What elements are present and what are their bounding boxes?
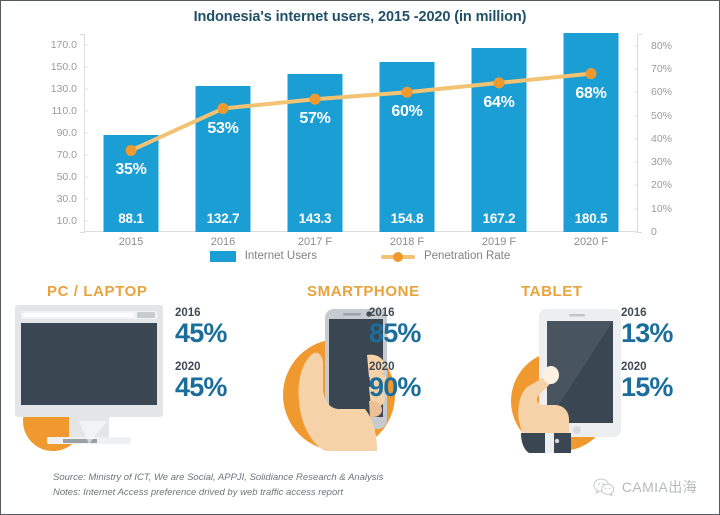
penetration-value-label: 64% [453, 94, 545, 112]
device-title: SMARTPHONE [257, 283, 501, 300]
device-panel-pc: PC / LAPTOP 2016 45% 2020 [7, 281, 257, 461]
penetration-value-label: 60% [361, 103, 453, 121]
y-tick-label: 110.0 [52, 105, 78, 117]
stat-value: 90% [369, 374, 421, 401]
infographic-root: Indonesia's internet users, 2015 -2020 (… [0, 0, 720, 515]
stat-block: 2016 13% [621, 307, 673, 347]
stat-value: 85% [369, 320, 421, 347]
stat-value: 15% [621, 374, 673, 401]
legend-item-internet-users: Internet Users [210, 250, 317, 262]
y2-tick-label: 30% [651, 156, 672, 168]
y-tick-mark [84, 177, 88, 178]
penetration-value-label: 53% [177, 120, 269, 138]
bar-column: 88.135% [85, 34, 177, 232]
y-tick-label: 150.0 [51, 61, 77, 73]
x-tick-label: 2017 F [269, 236, 361, 248]
y-tick-label: 30.0 [57, 193, 77, 205]
y2-tick-mark [634, 162, 638, 163]
y-tick-label: 70.0 [57, 149, 77, 161]
y-tick-mark [84, 45, 88, 46]
stat-value: 45% [175, 374, 227, 401]
legend-label: Internet Users [245, 250, 317, 262]
stat-value: 45% [175, 320, 227, 347]
bar-column: 154.860% [361, 34, 453, 232]
bar[interactable]: 88.1 [103, 135, 158, 232]
stat-block: 2016 85% [369, 307, 421, 347]
footer-notes: Source: Ministry of ICT, We are Social, … [53, 471, 383, 500]
y-tick-label: 170.0 [51, 39, 77, 51]
device-stats: 2016 85% 2020 90% [369, 307, 421, 401]
axis-cap [80, 232, 85, 233]
y-tick-label: 10.0 [57, 215, 77, 227]
x-tick-label: 2019 F [453, 236, 545, 248]
y2-tick-label: 80% [651, 40, 672, 52]
device-title: PC / LAPTOP [7, 283, 257, 300]
bar[interactable]: 167.2 [471, 48, 526, 232]
bar-column: 180.568% [545, 34, 637, 232]
y-tick-mark [84, 221, 88, 222]
notes-text: Notes: Internet Access preference drived… [53, 486, 383, 501]
line-swatch-icon [381, 251, 415, 262]
y-tick-mark [84, 89, 88, 90]
bar-value-label: 88.1 [103, 211, 158, 226]
penetration-value-label: 57% [269, 110, 361, 128]
axis-cap [637, 34, 642, 35]
bar-value-label: 154.8 [379, 211, 434, 226]
combo-chart: 170.0150.0130.0110.090.070.050.030.010.0… [37, 34, 685, 244]
y-axis-right: 80%70%60%50%40%30%20%10%0 [641, 34, 685, 232]
stat-block: 2020 45% [175, 361, 227, 401]
bar-value-label: 180.5 [563, 211, 618, 226]
wechat-icon [593, 478, 615, 497]
y2-tick-mark [634, 45, 638, 46]
bar-swatch-icon [210, 251, 236, 262]
stat-block: 2020 15% [621, 361, 673, 401]
y2-tick-label: 60% [651, 86, 672, 98]
x-tick-label: 2016 [177, 236, 269, 248]
stat-block: 2020 90% [369, 361, 421, 401]
bar-value-label: 132.7 [195, 211, 250, 226]
y2-tick-mark [634, 138, 638, 139]
stat-value: 13% [621, 320, 673, 347]
device-stats: 2016 45% 2020 45% [175, 307, 227, 401]
y-tick-mark [84, 133, 88, 134]
y2-tick-label: 10% [651, 203, 672, 215]
y2-tick-mark [634, 185, 638, 186]
y2-tick-label: 20% [651, 179, 672, 191]
x-tick-label: 2018 F [361, 236, 453, 248]
source-text: Source: Ministry of ICT, We are Social, … [53, 471, 383, 486]
stat-block: 2016 45% [175, 307, 227, 347]
y2-tick-label: 50% [651, 110, 672, 122]
y-tick-mark [84, 199, 88, 200]
y2-tick-label: 0 [651, 226, 657, 238]
legend-label: Penetration Rate [424, 250, 510, 262]
desktop-monitor-icon [11, 303, 171, 453]
axis-cap [80, 34, 85, 35]
y-tick-mark [84, 111, 88, 112]
bar[interactable]: 143.3 [287, 74, 342, 232]
hand-holding-tablet-icon [509, 303, 639, 458]
y2-tick-mark [634, 115, 638, 116]
bar-value-label: 167.2 [471, 211, 526, 226]
bar[interactable]: 180.5 [563, 33, 618, 232]
bar[interactable]: 132.7 [195, 86, 250, 232]
y-tick-label: 90.0 [57, 127, 77, 139]
bar-column: 132.753% [177, 34, 269, 232]
bar-column: 143.357% [269, 34, 361, 232]
bar-column: 167.264% [453, 34, 545, 232]
y-tick-mark [84, 155, 88, 156]
y-tick-mark [84, 67, 88, 68]
y2-tick-mark [634, 208, 638, 209]
device-panel-tablet: TABLET 2016 13% 2020 [501, 281, 719, 461]
legend-item-penetration-rate: Penetration Rate [381, 250, 510, 262]
plot-area: 88.135%132.753%143.357%154.860%167.264%1… [85, 34, 637, 232]
bar-value-label: 143.3 [287, 211, 342, 226]
y2-tick-mark [634, 92, 638, 93]
y-tick-label: 130.0 [51, 83, 77, 95]
device-usage-section: PC / LAPTOP 2016 45% 2020 [1, 281, 719, 461]
y2-tick-mark [634, 68, 638, 69]
y-tick-label: 50.0 [57, 171, 77, 183]
device-panel-smartphone: SMARTPHONE 2016 85% 202 [257, 281, 501, 461]
y2-tick-label: 40% [651, 133, 672, 145]
page-title: Indonesia's internet users, 2015 -2020 (… [1, 9, 719, 25]
device-stats: 2016 13% 2020 15% [621, 307, 673, 401]
axis-cap [637, 232, 642, 233]
watermark-text: CAMIA出海 [622, 477, 697, 497]
x-tick-label: 2020 F [545, 236, 637, 248]
chart-legend: Internet Users Penetration Rate [1, 250, 719, 262]
watermark: CAMIA出海 [593, 477, 697, 497]
device-title: TABLET [501, 283, 719, 300]
y-axis-left: 170.0150.0130.0110.090.070.050.030.010.0 [37, 34, 81, 232]
bar[interactable]: 154.8 [379, 62, 434, 232]
penetration-value-label: 68% [545, 85, 637, 103]
y2-tick-label: 70% [651, 63, 672, 75]
penetration-value-label: 35% [85, 161, 177, 179]
x-tick-label: 2015 [85, 236, 177, 248]
axis-line-right [637, 34, 638, 232]
